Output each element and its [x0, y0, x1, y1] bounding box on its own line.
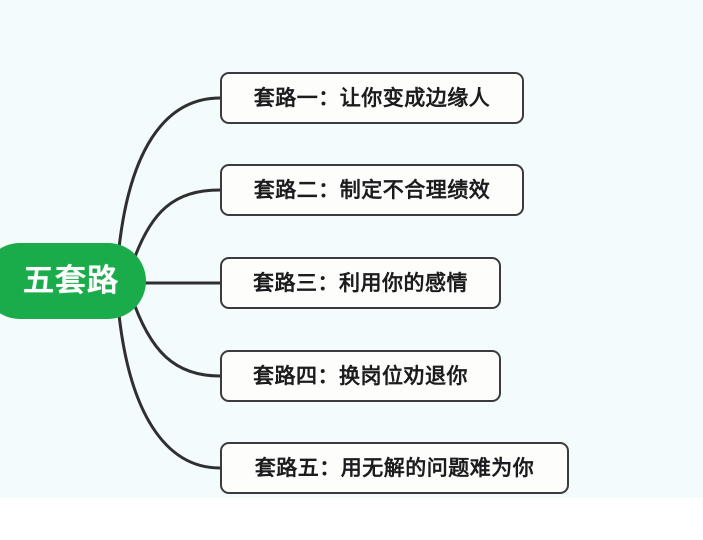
branch-node-3-label: 套路三：利用你的感情	[253, 273, 468, 294]
branch-node-2-label: 套路二：制定不合理绩效	[254, 180, 491, 201]
connector-to-branch-2	[131, 190, 220, 268]
connector-to-branch-4	[131, 295, 220, 376]
mindmap-canvas: 五套路 套路一：让你变成边缘人 套路二：制定不合理绩效 套路三：利用你的感情 套…	[0, 0, 703, 540]
branch-node-1[interactable]: 套路一：让你变成边缘人	[220, 72, 524, 124]
root-node[interactable]: 五套路	[0, 243, 146, 319]
connector-to-branch-5	[118, 305, 220, 468]
root-node-label: 五套路	[23, 266, 119, 297]
connector-to-branch-1	[118, 98, 220, 258]
branch-node-1-label: 套路一：让你变成边缘人	[254, 88, 491, 109]
branch-node-2[interactable]: 套路二：制定不合理绩效	[220, 164, 524, 216]
branch-node-5-label: 套路五：用无解的问题难为你	[255, 458, 535, 479]
branch-node-4[interactable]: 套路四：换岗位劝退你	[220, 350, 501, 402]
branch-node-3[interactable]: 套路三：利用你的感情	[220, 257, 501, 309]
branch-node-4-label: 套路四：换岗位劝退你	[253, 366, 468, 387]
branch-node-5[interactable]: 套路五：用无解的问题难为你	[220, 442, 569, 494]
